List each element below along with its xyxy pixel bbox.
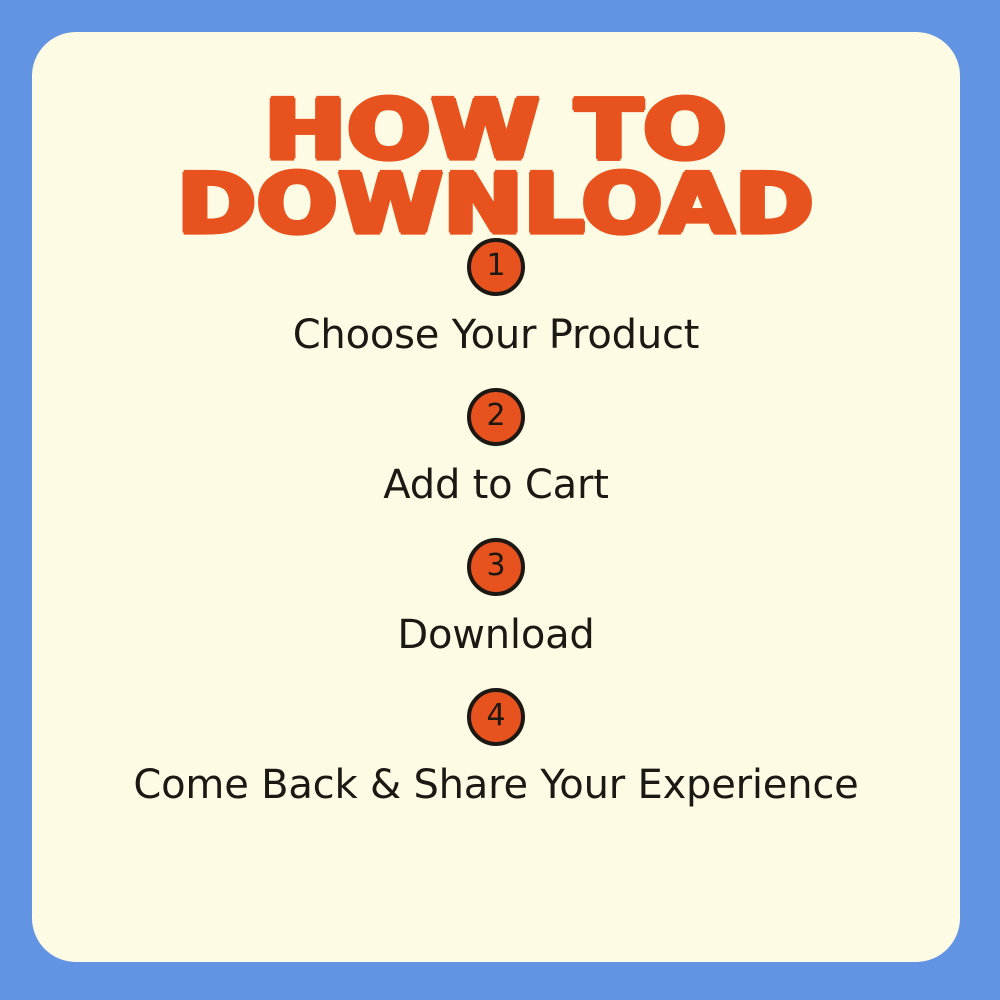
step-badge-2: 2 (467, 388, 525, 446)
step-badge-3: 3 (467, 538, 525, 596)
content-card: HOW TO DOWNLOAD 1 Choose Your Product 2 … (32, 32, 960, 962)
step-badge-4: 4 (467, 688, 525, 746)
step-badge-1: 1 (467, 238, 525, 296)
step-item-1: 1 Choose Your Product (32, 238, 960, 356)
step-item-3: 3 Download (32, 538, 960, 656)
infographic-canvas: HOW TO DOWNLOAD 1 Choose Your Product 2 … (0, 0, 1000, 1000)
page-title: HOW TO DOWNLOAD (32, 90, 960, 243)
step-number-4: 4 (486, 701, 505, 731)
title-line-2: DOWNLOAD (32, 164, 960, 246)
step-number-2: 2 (486, 401, 505, 431)
step-label-4: Come Back & Share Your Experience (32, 764, 960, 806)
step-number-3: 3 (486, 551, 505, 581)
step-number-1: 1 (486, 251, 505, 281)
step-label-2: Add to Cart (32, 464, 960, 506)
steps-list: 1 Choose Your Product 2 Add to Cart 3 Do… (32, 238, 960, 838)
step-item-4: 4 Come Back & Share Your Experience (32, 688, 960, 806)
step-item-2: 2 Add to Cart (32, 388, 960, 506)
step-label-1: Choose Your Product (32, 314, 960, 356)
step-label-3: Download (32, 614, 960, 656)
